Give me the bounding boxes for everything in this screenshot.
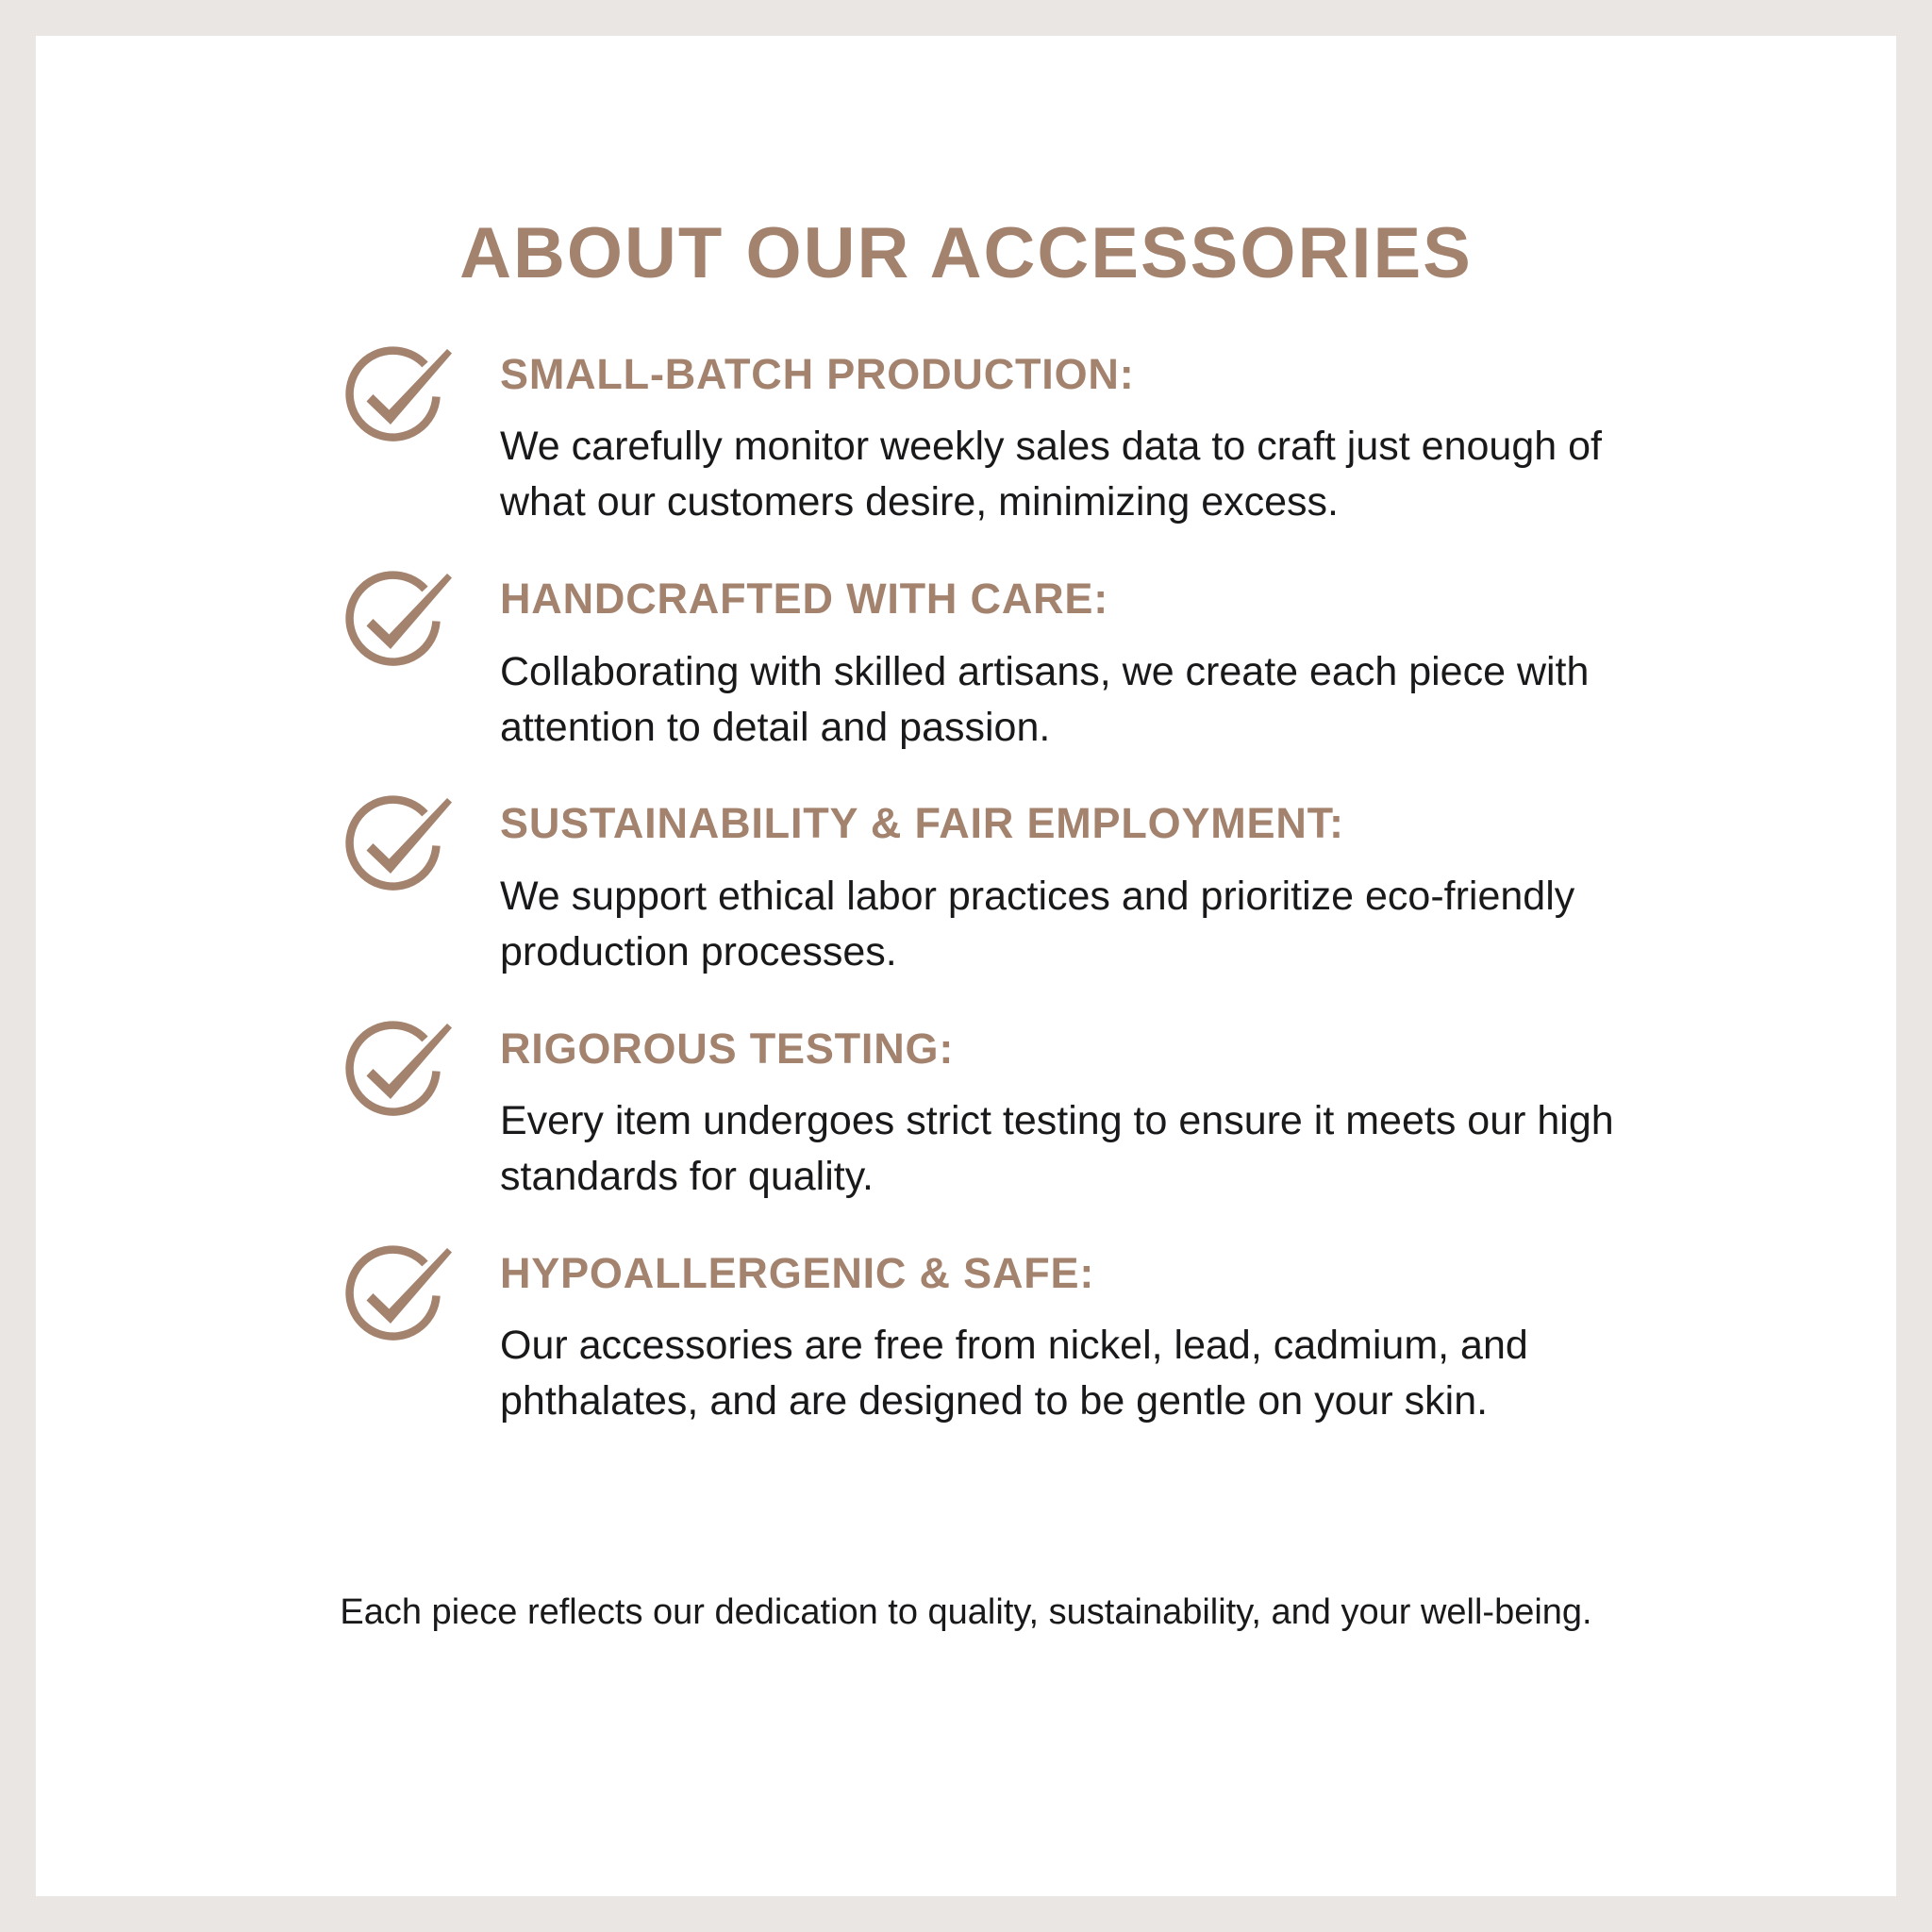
check-circle-icon	[343, 1016, 457, 1129]
list-item: SUSTAINABILITY & FAIR EMPLOYMENT: We sup…	[340, 787, 1679, 979]
feature-heading: SMALL-BATCH PRODUCTION:	[500, 338, 1679, 398]
page-frame: ABOUT OUR ACCESSORIES SMALL-BATCH PRODUC…	[0, 0, 1932, 1932]
feature-heading: HANDCRAFTED WITH CARE:	[500, 562, 1679, 623]
check-circle-icon	[343, 791, 457, 904]
feature-list: SMALL-BATCH PRODUCTION: We carefully mon…	[340, 338, 1679, 1429]
content-card: ABOUT OUR ACCESSORIES SMALL-BATCH PRODUC…	[36, 36, 1896, 1896]
check-circle-icon	[343, 1241, 457, 1354]
list-item: SMALL-BATCH PRODUCTION: We carefully mon…	[340, 338, 1679, 530]
feature-body: Every item undergoes strict testing to e…	[500, 1093, 1679, 1205]
footer-note: Each piece reflects our dedication to qu…	[36, 1590, 1896, 1636]
list-item: HANDCRAFTED WITH CARE: Collaborating wit…	[340, 562, 1679, 755]
check-circle-icon	[343, 566, 457, 679]
feature-heading: SUSTAINABILITY & FAIR EMPLOYMENT:	[500, 787, 1679, 847]
page-title: ABOUT OUR ACCESSORIES	[36, 218, 1896, 290]
list-item: HYPOALLERGENIC & SAFE: Our accessories a…	[340, 1237, 1679, 1429]
feature-heading: HYPOALLERGENIC & SAFE:	[500, 1237, 1679, 1297]
list-item: RIGOROUS TESTING: Every item undergoes s…	[340, 1012, 1679, 1205]
feature-body: We carefully monitor weekly sales data t…	[500, 419, 1623, 530]
check-circle-icon	[343, 341, 457, 455]
feature-body: Our accessories are free from nickel, le…	[500, 1318, 1679, 1429]
feature-body: Collaborating with skilled artisans, we …	[500, 644, 1679, 756]
feature-body: We support ethical labor practices and p…	[500, 869, 1679, 980]
feature-heading: RIGOROUS TESTING:	[500, 1012, 1679, 1073]
